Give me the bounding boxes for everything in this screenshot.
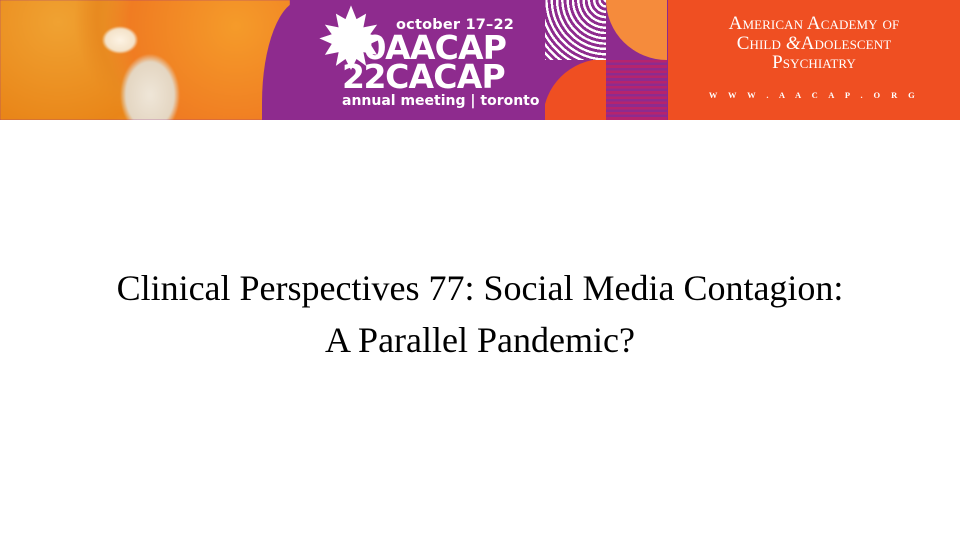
meeting-word-cacap: CACAP [385,57,505,96]
page-title-line-2: A Parallel Pandemic? [38,314,922,366]
org-name-line-1: American Academy of [668,14,960,34]
org-name-adolescent: Adolescent [801,33,892,54]
org-name-line-2: Child &Adolescent [668,34,960,54]
meeting-year-bottom: 22 [342,57,385,96]
aacap-org-logo-block: American Academy of Child &Adolescent Ps… [668,0,960,120]
quarter-circle-red-icon [545,60,606,120]
pattern-quadrant-stripes [606,60,667,120]
child-in-autumn-leaves-photo [0,0,290,120]
quarter-circle-orange-icon [606,0,667,60]
ampersand-glyph: & [786,33,801,54]
pattern-quadrant-arcs [545,0,606,60]
banner-photo [0,0,290,120]
meeting-tagline: annual meeting | toronto [342,93,540,109]
org-name-line-3: Psychiatry [668,53,960,73]
concentric-arcs-icon [545,0,606,60]
pattern-quadrant-orange-circle [606,0,667,60]
meeting-logo-line-2: 22CACAP [342,60,505,93]
page-title: Clinical Perspectives 77: Social Media C… [38,262,922,366]
aacap-org-name: American Academy of Child &Adolescent Ps… [668,14,960,73]
geometric-pattern-block [545,0,668,120]
org-name-child: Child [737,33,786,54]
pattern-quadrant-red-circle [545,60,606,120]
horizontal-stripes-icon [606,60,667,120]
meeting-logo-lockup: october 17–22 20AACAP 22CACAP annual mee… [300,0,540,120]
org-website-url: W W W . A A C A P . O R G [668,90,960,100]
header-banner: october 17–22 20AACAP 22CACAP annual mee… [0,0,960,120]
page-title-line-1: Clinical Perspectives 77: Social Media C… [38,262,922,314]
slide-canvas: october 17–22 20AACAP 22CACAP annual mee… [0,0,960,540]
